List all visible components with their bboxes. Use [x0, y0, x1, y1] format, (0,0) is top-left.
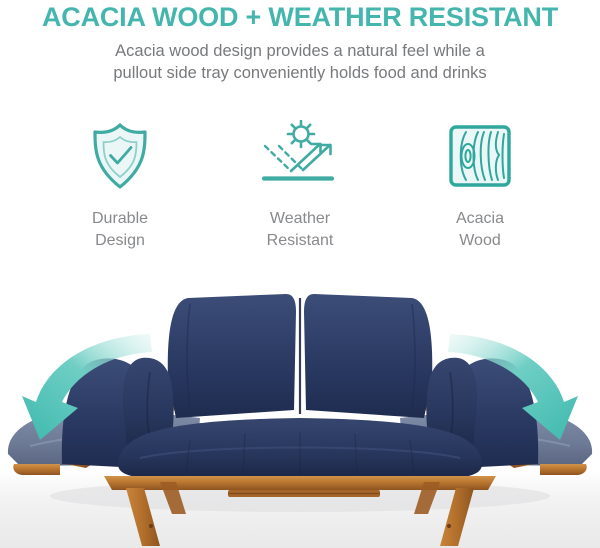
page-headline: ACACIA WOOD + WEATHER RESISTANT — [0, 2, 600, 33]
subtitle-line-2: pullout side tray conveniently holds foo… — [50, 62, 550, 84]
feature-label-line-2: Resistant — [267, 230, 334, 252]
feature-label-line-1: Weather — [267, 208, 334, 230]
left-leg-bolt — [149, 524, 153, 528]
product-feature-banner: ACACIA WOOD + WEATHER RESISTANT Acacia w… — [0, 0, 600, 548]
sun-weather-resistant-icon — [260, 118, 340, 194]
feature-list: Durable Design — [0, 118, 600, 268]
page-subtitle: Acacia wood design provides a natural fe… — [50, 40, 550, 84]
feature-weather-resistant: Weather Resistant — [210, 118, 390, 252]
product-photo — [0, 268, 600, 548]
shield-check-icon — [89, 118, 151, 194]
feature-label: Acacia Wood — [456, 208, 504, 252]
feature-label: Weather Resistant — [267, 208, 334, 252]
subtitle-line-1: Acacia wood design provides a natural fe… — [50, 40, 550, 62]
wood-grain-icon — [448, 118, 512, 194]
feature-label: Durable Design — [92, 208, 148, 252]
left-outer-foot — [13, 464, 60, 475]
feature-label-line-2: Wood — [456, 230, 504, 252]
right-leg-bolt — [447, 524, 451, 528]
feature-label-line-1: Acacia — [456, 208, 504, 230]
feature-label-line-1: Durable — [92, 208, 148, 230]
feature-acacia-wood: Acacia Wood — [390, 118, 570, 252]
right-outer-foot — [540, 464, 587, 475]
convertible-daybed-sofa-illustration — [0, 268, 600, 548]
feature-label-line-2: Design — [92, 230, 148, 252]
feature-durable-design: Durable Design — [30, 118, 210, 252]
